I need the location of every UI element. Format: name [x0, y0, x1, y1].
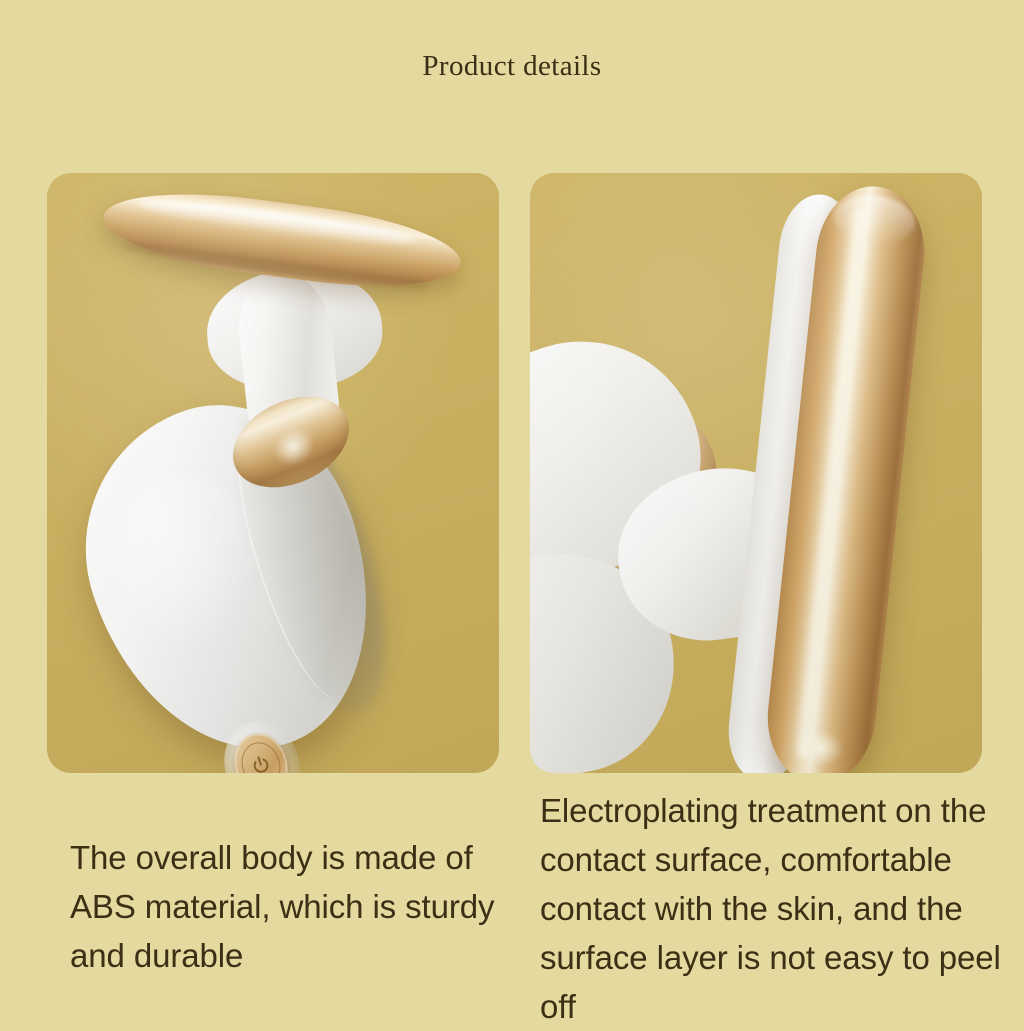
product-image-panel-right — [530, 173, 982, 773]
gold-bar-cap-rim — [831, 191, 918, 247]
product-image-panel-left — [47, 173, 499, 773]
power-icon — [246, 749, 275, 773]
head-bar-highlight — [137, 194, 418, 251]
gold-bar-tip-glow — [795, 727, 844, 768]
caption-left: The overall body is made of ABS material… — [70, 833, 520, 980]
product-details-page: Product details — [0, 0, 1024, 1024]
page-title: Product details — [0, 50, 1024, 83]
collar-highlight — [269, 421, 319, 471]
device-body-left — [48, 372, 412, 773]
caption-right: Electroplating treatment on the contact … — [540, 786, 1010, 1031]
